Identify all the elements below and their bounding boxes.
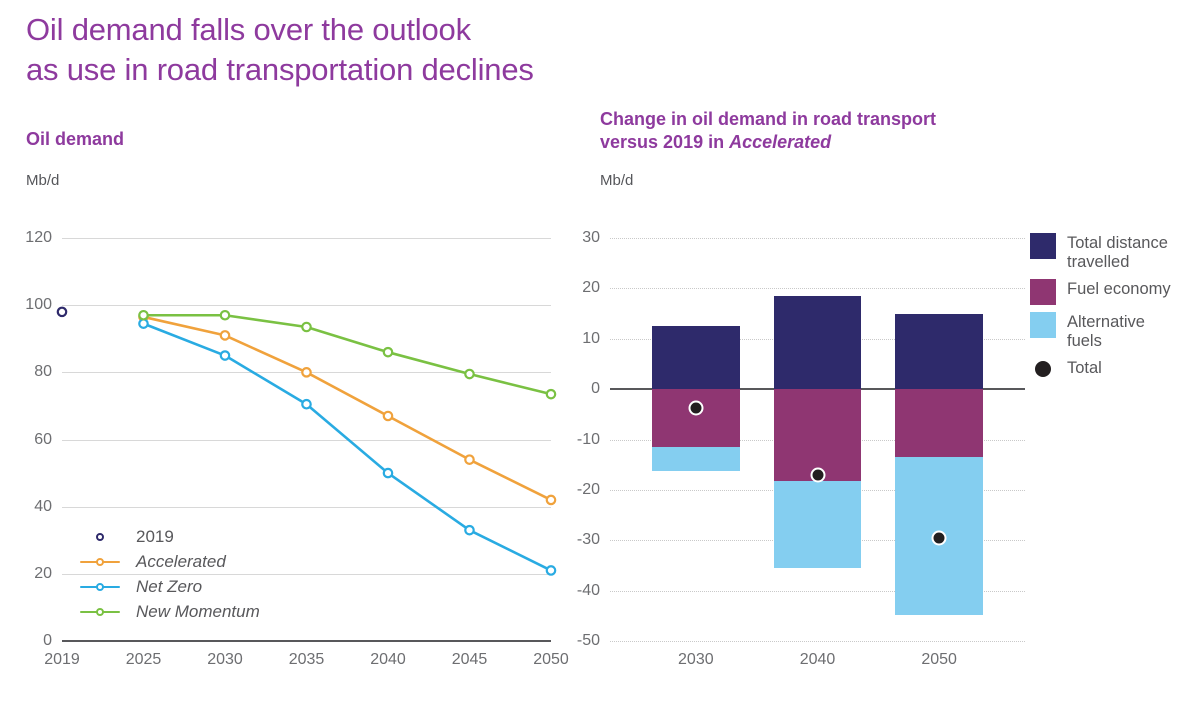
right-x-tick: 2040 bbox=[768, 651, 868, 669]
right-y-tick: -20 bbox=[554, 481, 600, 499]
right-y-tick: -30 bbox=[554, 531, 600, 549]
right-y-tick: -40 bbox=[554, 582, 600, 600]
legend-label: Net Zero bbox=[136, 577, 202, 597]
legend-marker-icon bbox=[96, 558, 104, 566]
right-y-tick: 10 bbox=[554, 330, 600, 348]
legend-label: Fuel economy bbox=[1067, 279, 1171, 299]
right-y-tick: 20 bbox=[554, 279, 600, 297]
total-marker-dot bbox=[932, 531, 947, 546]
legend-item[interactable]: 2019 bbox=[72, 524, 260, 549]
right-gridline bbox=[610, 641, 1025, 643]
legend-marker-icon bbox=[96, 583, 104, 591]
legend-square-icon bbox=[1030, 279, 1056, 305]
legend-swatch-new-momentum bbox=[72, 605, 128, 619]
bar-segment bbox=[895, 389, 983, 457]
right-y-tick: 0 bbox=[554, 380, 600, 398]
legend-item[interactable]: Net Zero bbox=[72, 574, 260, 599]
legend-label: New Momentum bbox=[136, 602, 260, 622]
legend-label: Accelerated bbox=[136, 552, 226, 572]
bar-segment bbox=[774, 481, 862, 568]
legend-marker-icon bbox=[96, 533, 104, 541]
legend-swatch-accelerated bbox=[72, 555, 128, 569]
bar-segment bbox=[774, 296, 862, 389]
legend-label: Total distance travelled bbox=[1067, 233, 1168, 272]
legend-item[interactable]: Accelerated bbox=[72, 549, 260, 574]
bar-chart-legend: Total distance travelledFuel economyAlte… bbox=[1030, 233, 1200, 387]
legend-item[interactable]: Total distance travelled bbox=[1030, 233, 1200, 272]
right-y-tick: 30 bbox=[554, 229, 600, 247]
legend-circle-icon bbox=[1035, 361, 1051, 377]
total-marker-dot bbox=[810, 467, 825, 482]
right-y-tick: -10 bbox=[554, 431, 600, 449]
bar-segment bbox=[652, 389, 740, 447]
legend-swatch-net-zero bbox=[72, 580, 128, 594]
right-gridline bbox=[610, 288, 1025, 290]
right-x-tick: 2030 bbox=[646, 651, 746, 669]
legend-label: Total bbox=[1067, 358, 1102, 378]
bar-segment bbox=[652, 326, 740, 389]
bar-segment bbox=[895, 314, 983, 390]
right-gridline bbox=[610, 238, 1025, 240]
total-marker-dot bbox=[688, 401, 703, 416]
legend-circle-wrap bbox=[1030, 358, 1056, 380]
legend-label: Alternative fuels bbox=[1067, 312, 1145, 351]
right-x-tick: 2050 bbox=[889, 651, 989, 669]
legend-item[interactable]: Total bbox=[1030, 358, 1200, 380]
legend-square-icon bbox=[1030, 233, 1056, 259]
line-chart-legend: 2019AcceleratedNet ZeroNew Momentum bbox=[72, 524, 260, 624]
right-y-tick: -50 bbox=[554, 632, 600, 650]
bar-segment bbox=[652, 447, 740, 471]
legend-item[interactable]: Fuel economy bbox=[1030, 279, 1200, 305]
legend-square-icon bbox=[1030, 312, 1056, 338]
legend-label: 2019 bbox=[136, 527, 174, 547]
legend-swatch-2019 bbox=[72, 530, 128, 544]
legend-item[interactable]: New Momentum bbox=[72, 599, 260, 624]
legend-marker-icon bbox=[96, 608, 104, 616]
legend-item[interactable]: Alternative fuels bbox=[1030, 312, 1200, 351]
